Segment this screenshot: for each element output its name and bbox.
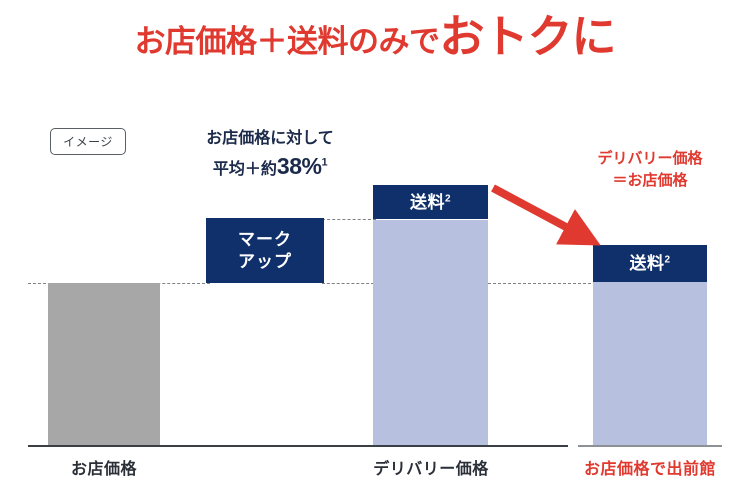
markup-annotation-prefix: 平均＋約 — [213, 161, 277, 178]
markup-segment-box: マーク アップ — [206, 218, 324, 283]
markup-footnote-marker: 1 — [321, 157, 327, 169]
equal-callout-line2: ＝お店価格 — [560, 170, 740, 192]
demae-fee-footnote-marker: 2 — [664, 254, 670, 265]
page-title: お店価格＋送料のみでおトクに — [0, 14, 750, 59]
markup-box-line1: マーク — [238, 229, 292, 250]
bar-delivery-shipping-fee: 送料2 — [373, 185, 488, 219]
bar-demae-shipping-fee: 送料2 — [593, 245, 707, 282]
delivery-fee-text: 送料 — [410, 193, 445, 212]
equal-callout-line1: デリバリー価格 — [560, 148, 740, 170]
bar-demae-base — [593, 282, 707, 445]
markup-box-line2: アップ — [238, 251, 292, 272]
delivery-equals-store-callout: デリバリー価格 ＝お店価格 — [560, 148, 740, 192]
markup-annotation-percent: 38%1 — [277, 153, 327, 179]
markup-annotation-line1: お店価格に対して — [175, 127, 365, 150]
x-axis-label-demae-price: お店価格で出前館 — [566, 455, 734, 479]
markup-percent-value: 38% — [277, 153, 322, 179]
infographic-canvas: お店価格＋送料のみでおトクに イメージ お店価格に対して 平均＋約38%1 マー… — [0, 0, 750, 495]
markup-annotation: お店価格に対して 平均＋約38%1 — [175, 127, 365, 184]
headline-large-text: おトクに — [439, 11, 615, 62]
x-axis-label-store-price: お店価格 — [34, 455, 174, 479]
bar-delivery-base — [373, 220, 488, 445]
image-disclaimer-badge: イメージ — [50, 128, 126, 155]
markup-annotation-line2: 平均＋約38%1 — [175, 150, 365, 183]
image-disclaimer-label: イメージ — [63, 133, 113, 150]
guide-line-markup-top — [322, 219, 376, 220]
bar-store-price — [48, 283, 160, 445]
chart-baseline-left — [28, 445, 568, 447]
guide-line-store-price-right — [488, 283, 596, 284]
x-axis-label-delivery-price: デリバリー価格 — [356, 455, 506, 479]
headline-small-text: お店価格＋送料のみで — [134, 24, 439, 59]
chart-baseline-right — [578, 445, 722, 447]
guide-line-store-price-mid — [322, 283, 374, 284]
demae-shipping-fee-label: 送料2 — [629, 255, 670, 272]
demae-fee-text: 送料 — [629, 254, 664, 273]
delivery-shipping-fee-label: 送料2 — [410, 194, 451, 211]
delivery-fee-footnote-marker: 2 — [445, 193, 451, 204]
